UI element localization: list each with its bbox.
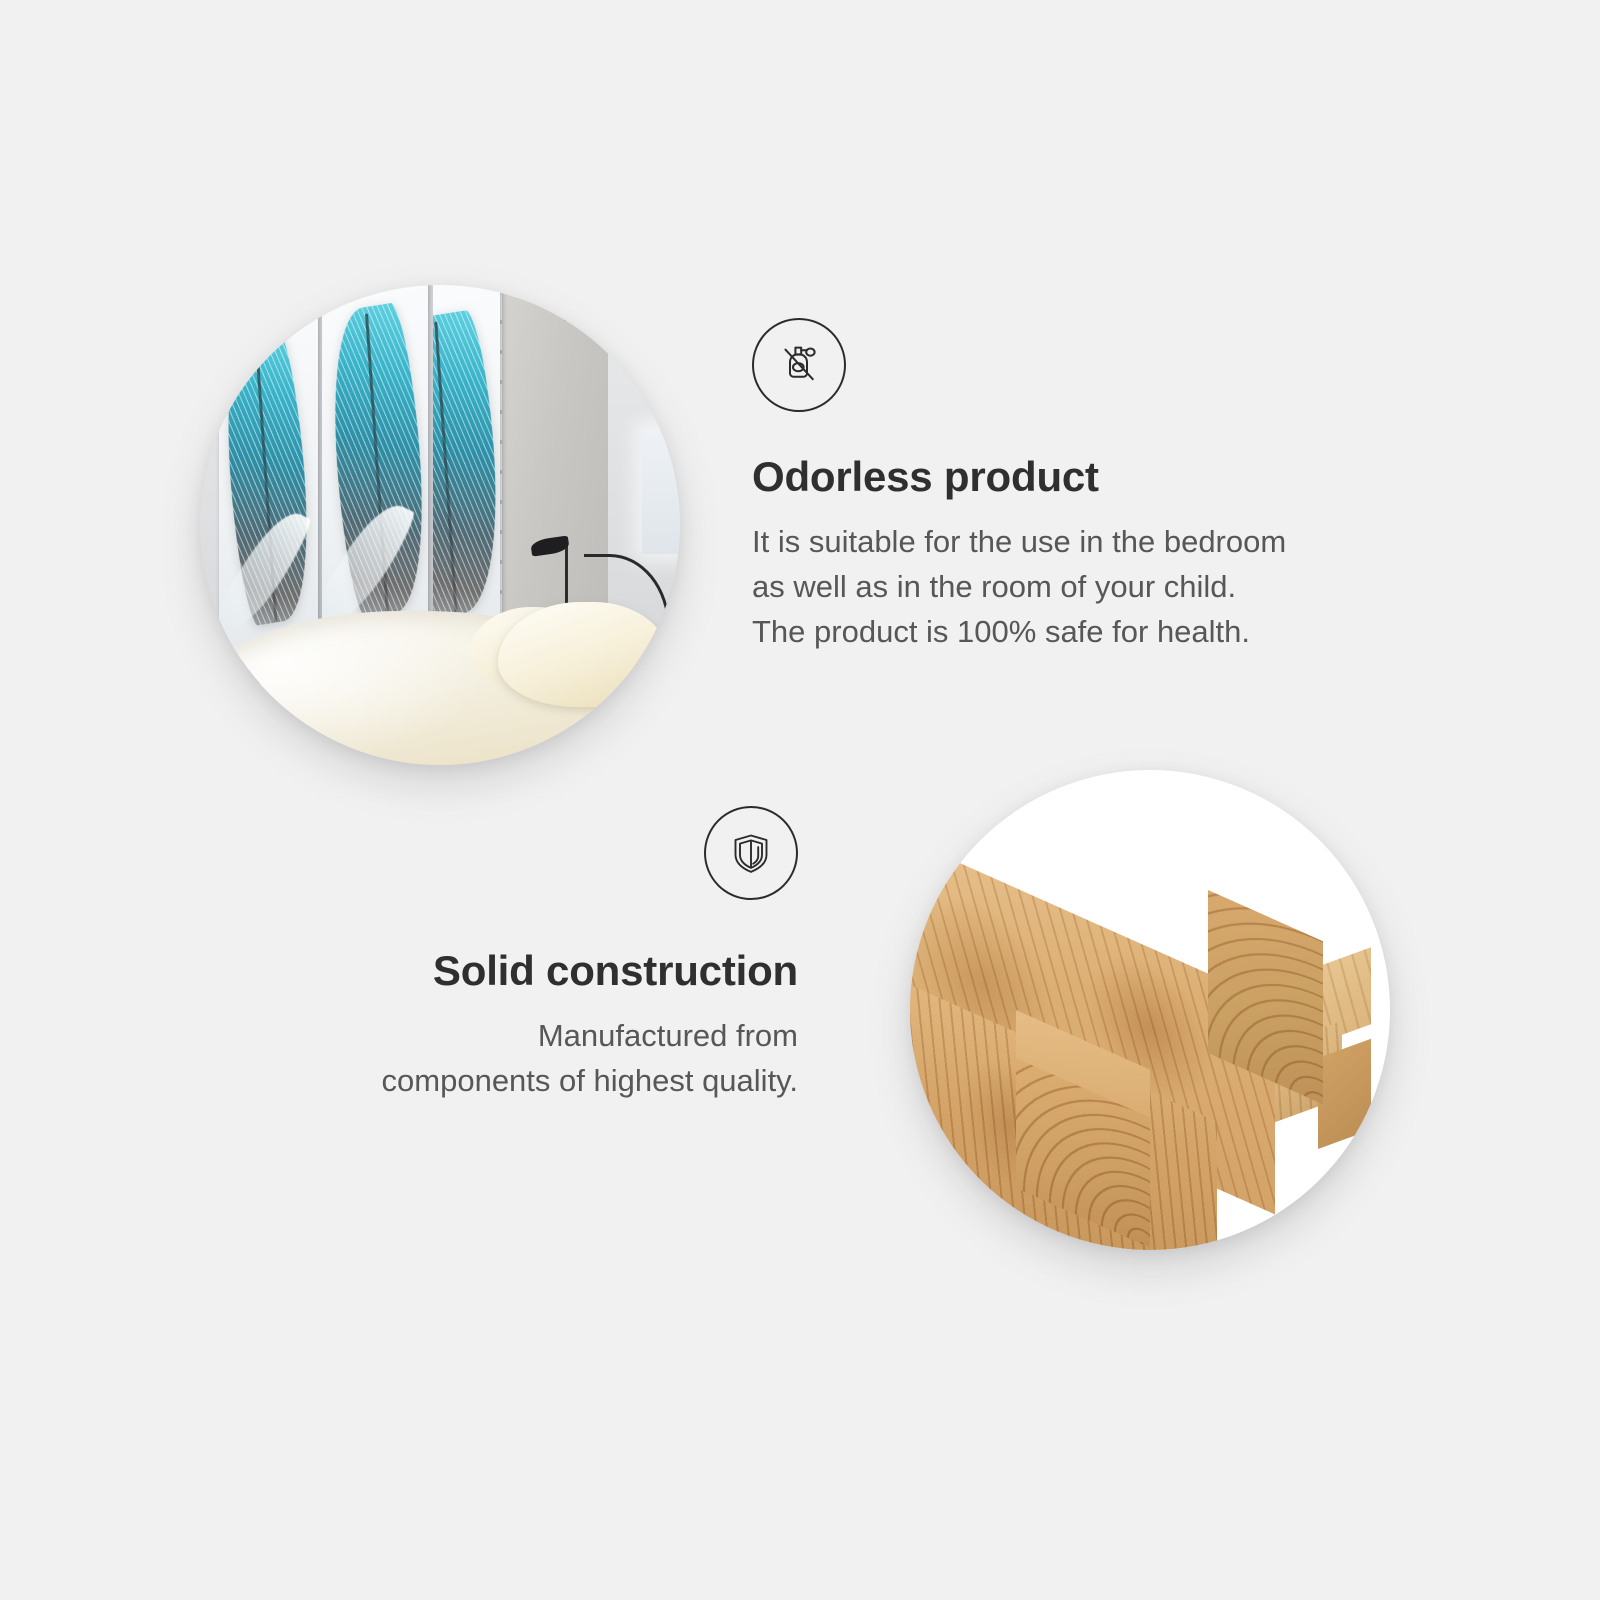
shield-icon xyxy=(704,806,798,900)
wood-plank-end-grain xyxy=(1318,1039,1371,1149)
product-photo-wooden-blocks xyxy=(910,770,1390,1250)
bed-pillow xyxy=(498,602,671,708)
side-window xyxy=(642,429,680,554)
bedroom-scene xyxy=(200,285,680,765)
feature-description: It is suitable for the use in the bedroo… xyxy=(752,520,1432,655)
feature-title: Solid construction xyxy=(268,948,798,994)
feature-solid-construction: Solid construction Manufactured from com… xyxy=(268,806,798,1104)
feature-description: Manufactured from components of highest … xyxy=(268,1014,798,1104)
infographic-canvas: Odorless product It is suitable for the … xyxy=(0,0,1600,1600)
canvas-panel-left xyxy=(219,285,317,669)
wooden-blocks-scene xyxy=(910,770,1390,1250)
feature-title: Odorless product xyxy=(752,454,1432,500)
no-fragrance-icon xyxy=(752,318,846,412)
feather-graphic xyxy=(433,309,500,620)
product-photo-bedroom xyxy=(200,285,680,765)
feature-odorless-product: Odorless product It is suitable for the … xyxy=(752,318,1432,655)
